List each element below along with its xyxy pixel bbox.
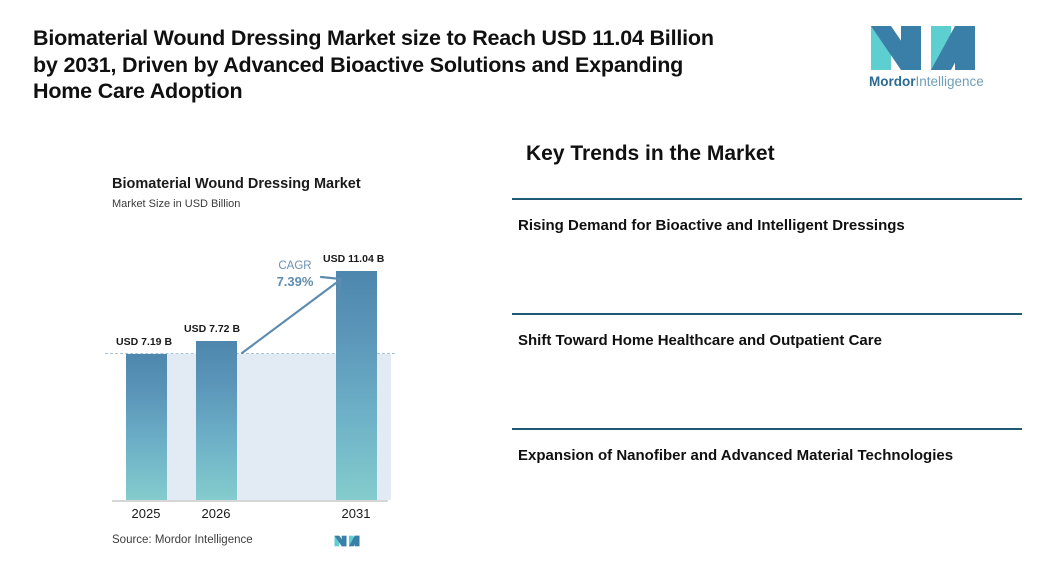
chart-source-row: Source: Mordor Intelligence: [112, 532, 388, 554]
x-tick-2025: 2025: [116, 506, 176, 521]
trend-item-label: Expansion of Nanofiber and Advanced Mate…: [518, 443, 1018, 468]
source-prefix: Source:: [112, 534, 152, 546]
page-title-line-3: Home Care Adoption: [33, 78, 863, 105]
mordor-intelligence-logo-icon: [869, 24, 977, 72]
brand-word-secondary: Intelligence: [916, 74, 984, 89]
trend-item-label: Rising Demand for Bioactive and Intellig…: [518, 213, 1018, 238]
chart-panel: Biomaterial Wound Dressing Market Market…: [0, 160, 500, 570]
page-title-line-1: Biomaterial Wound Dressing Market size t…: [33, 25, 863, 52]
trend-item: Expansion of Nanofiber and Advanced Mate…: [512, 428, 1022, 545]
chart-subtitle: Market Size in USD Billion: [112, 198, 240, 210]
bar-chart-plot: USD 7.19 B USD 7.72 B USD 11.04 B CAGR 7…: [112, 240, 388, 500]
x-tick-2031: 2031: [326, 506, 386, 521]
chart-x-axis: [112, 500, 388, 502]
key-trends-heading: Key Trends in the Market: [526, 142, 775, 166]
key-trends-panel: Key Trends in the Market Rising Demand f…: [512, 130, 1022, 550]
chart-title: Biomaterial Wound Dressing Market: [112, 176, 361, 192]
cagr-callout: CAGR 7.39%: [262, 258, 328, 290]
cagr-label: CAGR: [262, 258, 328, 274]
x-tick-2026: 2026: [186, 506, 246, 521]
trend-item: Shift Toward Home Healthcare and Outpati…: [512, 313, 1022, 430]
trend-item: Rising Demand for Bioactive and Intellig…: [512, 198, 1022, 315]
brand-word-primary: Mordor: [869, 74, 916, 89]
trend-item-label: Shift Toward Home Healthcare and Outpati…: [518, 328, 1018, 353]
source-name: Mordor Intelligence: [155, 534, 253, 546]
brand-logo: MordorIntelligence: [869, 24, 977, 96]
page-title: Biomaterial Wound Dressing Market size t…: [33, 25, 863, 105]
bar-value-label-2025: USD 7.19 B: [116, 336, 172, 348]
chart-source-text: Source: Mordor Intelligence: [112, 534, 253, 546]
mordor-intelligence-mark-icon: [334, 532, 360, 550]
cagr-value: 7.39%: [262, 274, 328, 290]
bar-2026: [196, 341, 237, 500]
bar-value-label-2026: USD 7.72 B: [184, 323, 240, 335]
bar-2025: [126, 354, 167, 500]
page-title-line-2: by 2031, Driven by Advanced Bioactive So…: [33, 52, 863, 79]
brand-wordmark: MordorIntelligence: [869, 74, 977, 90]
